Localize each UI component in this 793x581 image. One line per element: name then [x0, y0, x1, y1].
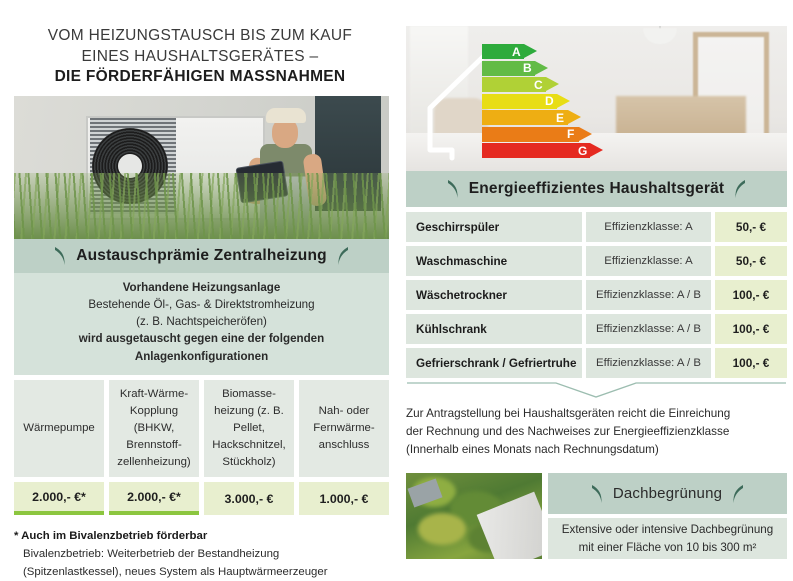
appliance-class: Effizienzklasse: A [586, 212, 711, 242]
appliance-note: Zur Antragstellung bei Haushaltsgeräten … [406, 405, 787, 459]
appliance-class: Effizienzklasse: A [586, 246, 711, 276]
chevron-right-icon [446, 179, 459, 199]
heating-section: Austauschprämie Zentralheizung Vorhanden… [14, 96, 389, 581]
page-title: VOM HEIZUNGSTAUSCH BIS ZUM KAUF EINES HA… [0, 26, 400, 88]
chevron-left-icon [732, 484, 745, 504]
photo-grass [14, 173, 389, 239]
appliance-name: Waschmaschine [406, 246, 582, 276]
footnote-line-1: Bivalenzbetrieb: Weiterbetrieb der Besta… [14, 546, 389, 564]
headline-line-2: EINES HAUSHALTSGERÄTES – [0, 47, 400, 68]
energy-class-label: C [534, 79, 543, 91]
headline-line-1: VOM HEIZUNGSTAUSCH BIS ZUM KAUF [0, 26, 400, 47]
appliance-class: Effizienzklasse: A / B [586, 280, 711, 310]
chevron-right-icon [590, 484, 603, 504]
energy-class-bar: E [482, 110, 712, 125]
infographic-page: VOM HEIZUNGSTAUSCH BIS ZUM KAUF EINES HA… [0, 0, 793, 572]
roof-foliage [418, 513, 466, 545]
green-roof-photo [406, 473, 542, 559]
footnote-bold: * Auch im Bivalenzbetrieb förderbar [14, 530, 207, 542]
heating-option-cell: Wärmepumpe [14, 380, 104, 478]
greenroof-content: Dachbegrünung Extensive oder intensive D… [548, 473, 787, 559]
chevron-right-icon [53, 246, 66, 266]
energy-efficiency-label: A B C D [482, 44, 712, 162]
appliance-name: Gefrierschrank / Gefriertruhe [406, 348, 582, 378]
heating-intro-bold-2: wird ausgetauscht gegen eine der folgend… [24, 330, 379, 347]
appliance-band: Energieeffizientes Haushaltsgerät [406, 171, 787, 207]
energy-class-bar: C [482, 77, 712, 92]
energy-class-label: F [567, 128, 574, 140]
heating-price-cell: 2.000,- €* [14, 482, 104, 515]
heating-footnote: * Auch im Bivalenzbetrieb förderbar Biva… [14, 528, 389, 581]
energy-class-bar: D [482, 94, 712, 109]
energy-label-kitchen-photo: A B C D [406, 26, 787, 171]
appliance-price: 100,- € [715, 280, 787, 310]
heating-band: Austauschprämie Zentralheizung [14, 239, 389, 273]
heating-price-cell: 2.000,- €* [109, 482, 199, 515]
energy-class-bar: F [482, 127, 712, 142]
energy-class-bar: G [482, 143, 712, 158]
heating-option-cell: Nah- oder Fernwärme-anschluss [299, 380, 389, 478]
energy-class-bar: A [482, 44, 712, 59]
appliance-note-line-1: Zur Antragstellung bei Haushaltsgeräten … [406, 405, 787, 423]
appliance-name: Kühlschrank [406, 314, 582, 344]
heat-pump-technician-photo [14, 96, 389, 239]
chevron-left-icon [337, 246, 350, 266]
appliance-band-title: Energieeffizientes Haushaltsgerät [469, 180, 725, 198]
table-row: Gefrierschrank / Gefriertruhe Effizienzk… [406, 348, 787, 378]
heating-band-title: Austauschprämie Zentralheizung [76, 247, 327, 265]
heating-intro-bold-3: Anlagenkonfigurationen [24, 348, 379, 365]
photo-person-cap [266, 108, 306, 123]
heating-price-cell: 1.000,- € [299, 482, 389, 515]
energy-class-label: A [512, 46, 521, 58]
table-row: Wäschetrockner Effizienzklasse: A / B 10… [406, 280, 787, 310]
appliance-section: A B C D [406, 26, 787, 459]
heating-option-cell: Kraft-Wärme-Kopplung (BHKW, Brennstoff-z… [109, 380, 199, 478]
appliance-table: Geschirrspüler Effizienzklasse: A 50,- €… [406, 212, 787, 378]
greenroof-text: Extensive oder intensive Dachbegrünung m… [548, 518, 787, 559]
table-row: Kühlschrank Effizienzklasse: A / B 100,-… [406, 314, 787, 344]
appliance-note-line-3: (Innerhalb eines Monats nach Rechnungsda… [406, 441, 787, 459]
heating-prices-row: 2.000,- €* 2.000,- €* 3.000,- € 1.000,- … [14, 482, 389, 515]
appliance-price: 50,- € [715, 212, 787, 242]
greenroof-band: Dachbegrünung [548, 473, 787, 514]
greenroof-text-line-1: Extensive oder intensive Dachbegrünung [562, 521, 773, 538]
photo-lamp [643, 28, 677, 44]
energy-class-label: B [523, 62, 532, 74]
appliance-price: 100,- € [715, 348, 787, 378]
chevron-left-icon [734, 179, 747, 199]
energy-class-label: G [578, 145, 587, 157]
appliance-class: Effizienzklasse: A / B [586, 348, 711, 378]
appliance-name: Wäschetrockner [406, 280, 582, 310]
energy-class-label: E [556, 112, 564, 124]
appliance-price: 100,- € [715, 314, 787, 344]
headline-line-3: DIE FÖRDERFÄHIGEN MASSNAHMEN [0, 67, 400, 88]
heating-intro-line-2: (z. B. Nachtspeicheröfen) [24, 313, 379, 330]
heating-intro-bold-1: Vorhandene Heizungsanlage [24, 279, 379, 296]
heating-intro-line-1: Bestehende Öl-, Gas- & Direktstromheizun… [24, 296, 379, 313]
greenroof-band-title: Dachbegrünung [613, 485, 722, 502]
heating-intro: Vorhandene Heizungsanlage Bestehende Öl-… [14, 273, 389, 375]
table-row: Waschmaschine Effizienzklasse: A 50,- € [406, 246, 787, 276]
energy-class-label: D [545, 95, 554, 107]
appliance-name: Geschirrspüler [406, 212, 582, 242]
heating-price-cell: 3.000,- € [204, 482, 294, 515]
heating-option-cell: Biomasse-heizung (z. B. Pellet, Hackschn… [204, 380, 294, 478]
greenroof-section: Dachbegrünung Extensive oder intensive D… [406, 473, 787, 559]
appliance-note-line-2: der Rechnung und des Nachweises zur Ener… [406, 423, 787, 441]
appliance-price: 50,- € [715, 246, 787, 276]
greenroof-text-line-2: mit einer Fläche von 10 bis 300 m² [579, 539, 757, 556]
v-connector-icon [406, 382, 787, 400]
energy-class-bar: B [482, 61, 712, 76]
heating-options-row: Wärmepumpe Kraft-Wärme-Kopplung (BHKW, B… [14, 380, 389, 478]
table-row: Geschirrspüler Effizienzklasse: A 50,- € [406, 212, 787, 242]
appliance-class: Effizienzklasse: A / B [586, 314, 711, 344]
footnote-line-2: (Spitzenlastkessel), neues System als Ha… [14, 564, 389, 581]
